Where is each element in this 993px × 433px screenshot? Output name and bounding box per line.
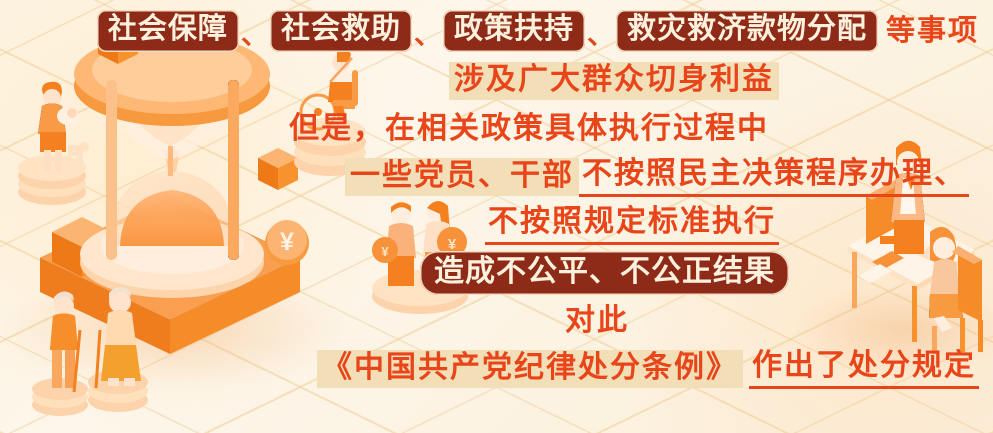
highlight-some-members-cadres: 一些党员、干部 xyxy=(345,158,579,196)
highlight-public-interest: 涉及广大群众切身利益 xyxy=(449,62,779,100)
separator-3: 、 xyxy=(585,22,616,49)
text-line-8: 《中国共产党纪律处分条例》 作出了处分规定 xyxy=(317,346,979,392)
text-line-7: 对此 xyxy=(565,298,979,344)
text-line-2: 涉及广大群众切身利益 xyxy=(449,58,979,104)
highlight-regulation-title: 《中国共产党纪律处分条例》 xyxy=(317,350,743,388)
text-line-6: 造成不公平、不公正结果 xyxy=(420,250,979,296)
text-line-4: 一些党员、干部 不按照民主决策程序办理、 xyxy=(345,154,979,200)
underline-made-provisions: 作出了处分规定 xyxy=(749,349,979,389)
text-etc-matters: 等事项 xyxy=(878,17,979,46)
underline-not-following-procedure: 不按照民主决策程序办理、 xyxy=(579,157,969,197)
badge-disaster-relief-distribution: 救灾救济款物分配 xyxy=(616,10,878,51)
poster-canvas: ¥ xyxy=(0,0,993,433)
underline-not-following-standard: 不按照规定标准执行 xyxy=(485,205,779,245)
badge-social-assistance: 社会救助 xyxy=(270,10,412,51)
text-line-3: 但是，在相关政策具体执行过程中 xyxy=(289,106,979,152)
badge-unfair-result: 造成不公平、不公正结果 xyxy=(420,251,789,295)
text-block: 社会保障 、 社会救助 、 政策扶持 、 救灾救济款物分配 等事项 涉及广大群众… xyxy=(239,8,979,392)
text-line-1: 社会保障 、 社会救助 、 政策扶持 、 救灾救济款物分配 等事项 xyxy=(97,8,979,54)
badge-policy-support: 政策扶持 xyxy=(443,10,585,51)
text-line-5: 不按照规定标准执行 xyxy=(485,202,979,248)
text-however-during-execution: 但是，在相关政策具体执行过程中 xyxy=(289,114,769,144)
separator-2: 、 xyxy=(412,22,443,49)
text-regarding-this: 对此 xyxy=(565,306,629,336)
badge-social-security: 社会保障 xyxy=(97,10,239,51)
separator-1: 、 xyxy=(239,22,270,49)
